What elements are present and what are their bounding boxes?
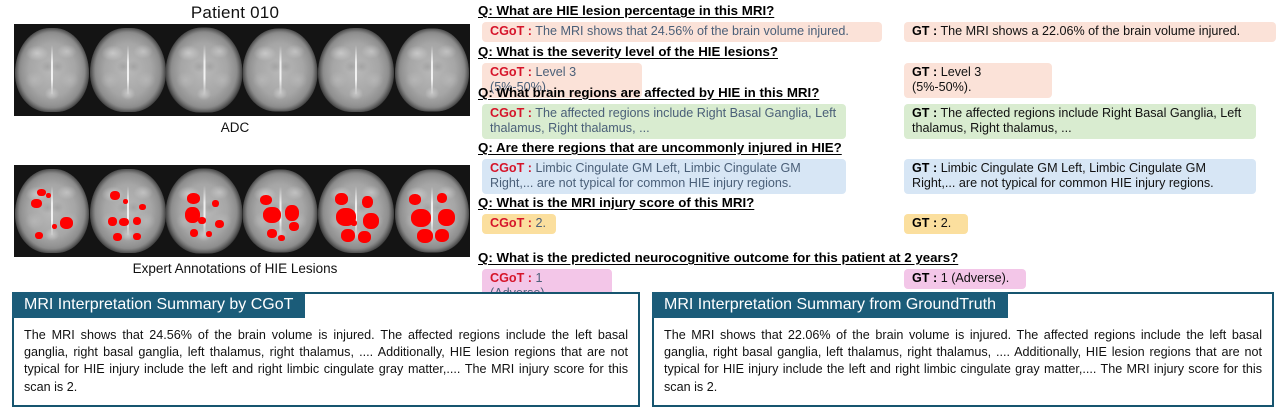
adc-slice — [14, 24, 90, 116]
lesion-slice-strip — [14, 165, 470, 257]
cgot-tag: CGoT : — [490, 65, 532, 79]
lesion-slice — [90, 165, 166, 257]
adc-slice — [394, 24, 470, 116]
cgot-answer-3: CGoT : The affected regions include Righ… — [482, 104, 846, 139]
brain-slice-image — [318, 28, 394, 112]
cgot-answer-text: The affected regions include Right Basal… — [490, 106, 836, 135]
summary-header-cgot: MRI Interpretation Summary by CGoT — [12, 292, 305, 318]
brain-slice-image — [166, 28, 242, 113]
gt-answer-2: GT : Level 3 (5%-50%). — [904, 63, 1052, 98]
cgot-tag: CGoT : — [490, 161, 532, 175]
gt-tag: GT : — [912, 161, 937, 175]
gt-answer-text: 2. — [941, 216, 952, 230]
adc-caption: ADC — [0, 120, 470, 135]
gt-tag: GT : — [912, 24, 937, 38]
brain-slice-image — [90, 28, 166, 112]
adc-slice — [242, 24, 318, 116]
cgot-answer-text: Limbic Cingulate GM Left, Limbic Cingula… — [490, 161, 801, 190]
gt-answer-text: 1 (Adverse). — [941, 271, 1010, 285]
gt-tag: GT : — [912, 65, 937, 79]
lesion-slice — [166, 165, 242, 257]
cgot-answer-4: CGoT : Limbic Cingulate GM Left, Limbic … — [482, 159, 846, 194]
gt-answer-1: GT : The MRI shows a 22.06% of the brain… — [904, 22, 1276, 42]
summary-box-cgot: MRI Interpretation Summary by CGoT The M… — [12, 292, 640, 407]
brain-slice-image — [166, 169, 242, 254]
cgot-answer-text: 2. — [535, 216, 546, 230]
cgot-answer-1: CGoT : The MRI shows that 24.56% of the … — [482, 22, 882, 42]
question-label-5: Q: What is the MRI injury score of this … — [478, 195, 754, 210]
brain-slice-image — [395, 170, 469, 253]
brain-slice-image — [90, 169, 166, 253]
gt-answer-3: GT : The affected regions include Right … — [904, 104, 1256, 139]
cgot-tag: CGoT : — [490, 106, 532, 120]
lesion-slice — [394, 165, 470, 257]
cgot-tag: CGoT : — [490, 24, 532, 38]
question-label-4: Q: Are there regions that are uncommonly… — [478, 140, 842, 155]
cgot-tag: CGoT : — [490, 216, 532, 230]
gt-answer-6: GT : 1 (Adverse). — [904, 269, 1026, 289]
summary-body-cgot: The MRI shows that 24.56% of the brain v… — [14, 320, 638, 405]
lesion-slice — [242, 165, 318, 257]
question-label-3: Q: What brain regions are affected by HI… — [478, 85, 819, 100]
adc-slice-strip — [14, 24, 470, 116]
brain-slice-image — [243, 29, 318, 112]
brain-slice-image — [243, 170, 318, 253]
question-label-2: Q: What is the severity level of the HIE… — [478, 44, 778, 59]
brain-slice-image — [15, 169, 89, 253]
gt-tag: GT : — [912, 106, 937, 120]
gt-answer-text: Limbic Cingulate GM Left, Limbic Cingula… — [912, 161, 1214, 190]
brain-slice-image — [395, 29, 469, 112]
summary-box-gt: MRI Interpretation Summary from GroundTr… — [652, 292, 1274, 407]
gt-answer-4: GT : Limbic Cingulate GM Left, Limbic Ci… — [904, 159, 1256, 194]
adc-slice — [166, 24, 242, 116]
cgot-tag: CGoT : — [490, 271, 532, 285]
gt-tag: GT : — [912, 271, 937, 285]
gt-tag: GT : — [912, 216, 937, 230]
brain-slice-image — [318, 169, 394, 253]
cgot-answer-5: CGoT : 2. — [482, 214, 556, 234]
gt-answer-text: The MRI shows a 22.06% of the brain volu… — [940, 24, 1240, 38]
adc-slice — [90, 24, 166, 116]
lesion-caption: Expert Annotations of HIE Lesions — [0, 261, 470, 276]
gt-answer-5: GT : 2. — [904, 214, 968, 234]
lesion-slice — [14, 165, 90, 257]
gt-answer-text: The affected regions include Right Basal… — [912, 106, 1241, 135]
summary-header-gt: MRI Interpretation Summary from GroundTr… — [652, 292, 1008, 318]
qa-panel: Q: What are HIE lesion percentage in thi… — [470, 0, 1286, 290]
question-label-1: Q: What are HIE lesion percentage in thi… — [478, 3, 774, 18]
summary-body-gt: The MRI shows that 22.06% of the brain v… — [654, 320, 1272, 405]
adc-slice — [318, 24, 394, 116]
imaging-panel: Patient 010 ADC — [0, 0, 470, 290]
lesion-slice — [318, 165, 394, 257]
cgot-answer-text: The MRI shows that 24.56% of the brain v… — [535, 24, 849, 38]
question-label-6: Q: What is the predicted neurocognitive … — [478, 250, 958, 265]
patient-title: Patient 010 — [0, 3, 470, 23]
brain-slice-image — [15, 28, 89, 112]
